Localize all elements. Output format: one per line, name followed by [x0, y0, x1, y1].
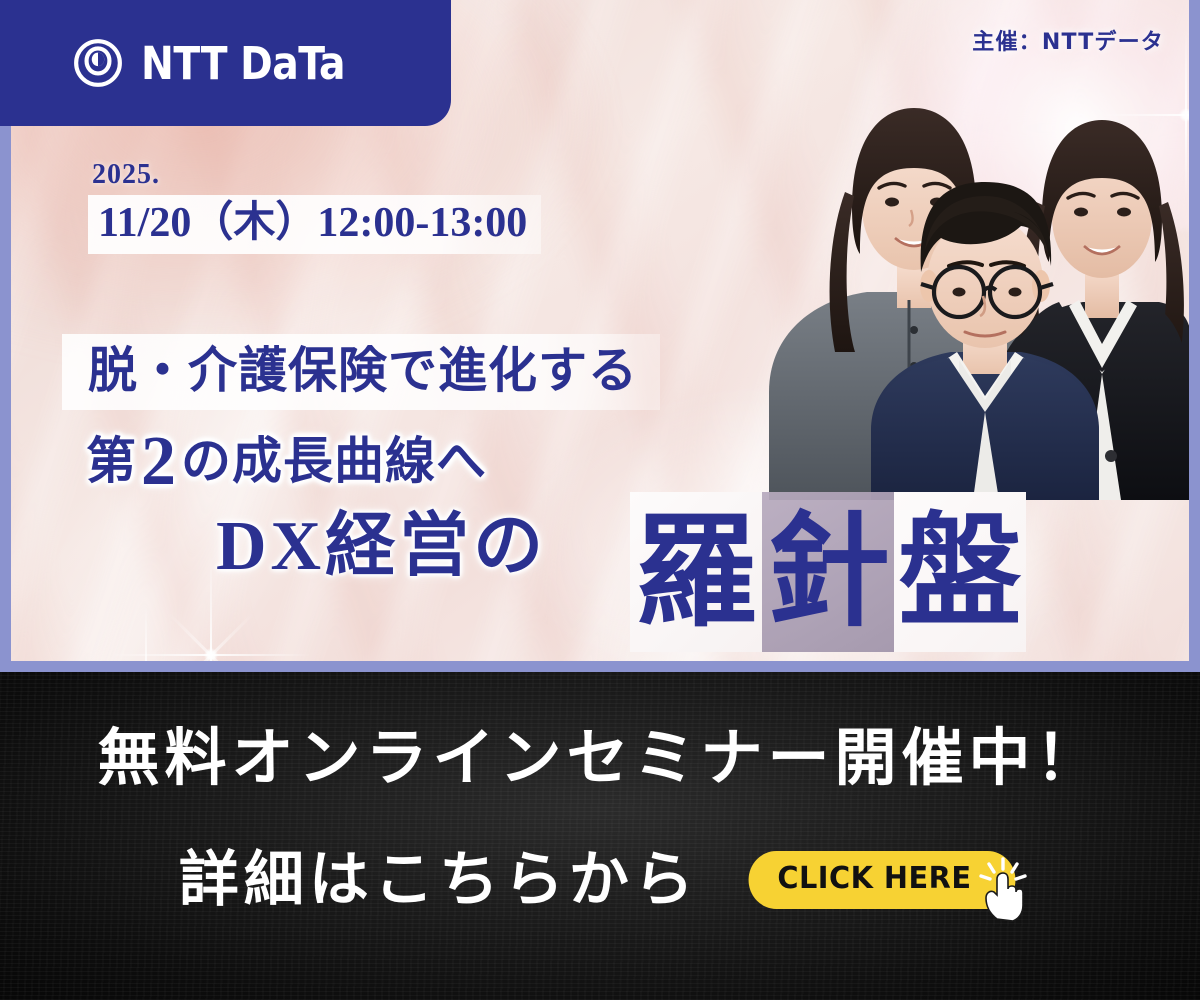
seminar-promo-banner[interactable]: NTT DaTa 主催：NTTデータ 2025. 11/20（木）12:00-1…	[0, 0, 1200, 1000]
headline-line-2: 第2の成長曲線へ	[86, 418, 487, 506]
headline-line-2-number: 2	[137, 423, 181, 500]
headline-line-2-suffix: の成長曲線へ	[181, 433, 487, 489]
ntt-data-logo-mark	[72, 37, 124, 89]
main-title-prefix: DX経営	[216, 512, 473, 582]
footer-line-1: 無料オンラインセミナー開催中！	[0, 728, 1200, 790]
footer-line-2: 詳細はこちらから	[179, 850, 699, 910]
speakers-illustration	[759, 0, 1189, 500]
hero-section: NTT DaTa 主催：NTTデータ 2025. 11/20（木）12:00-1…	[0, 0, 1200, 672]
ntt-data-logo: NTT DaTa	[0, 0, 451, 126]
event-date-block: 2025. 11/20（木）12:00-13:00	[88, 160, 541, 254]
cta-section: 無料オンラインセミナー開催中！ 詳細はこちらから CLICK HERE	[0, 672, 1200, 1000]
event-datetime: 11/20（木）12:00-13:00	[88, 195, 541, 254]
main-title-kanji-1: 羅	[630, 492, 762, 652]
footer-cta-row: 詳細はこちらから CLICK HERE	[0, 850, 1200, 910]
main-title-kanji-2: 針	[762, 492, 894, 652]
ntt-data-wordmark: NTT DaTa	[141, 41, 345, 86]
headline-line-2-prefix: 第	[86, 433, 137, 489]
main-title-kanji-3: 盤	[894, 492, 1026, 652]
event-year: 2025.	[88, 160, 541, 191]
hand-cursor-icon	[977, 857, 1029, 923]
cta-button-wrapper[interactable]: CLICK HERE	[743, 851, 1021, 909]
headline-line-1: 脱・介護保険で進化する	[62, 334, 660, 410]
organizer-label: 主催：NTTデータ	[972, 24, 1164, 56]
click-here-button[interactable]: CLICK HERE	[748, 851, 1015, 909]
main-title-particle: の	[473, 512, 547, 582]
main-title-kanji-group: 羅 針 盤	[630, 492, 1026, 652]
speakers-photo-group	[759, 0, 1189, 500]
main-title-prefix-group: DX経営の	[216, 512, 547, 582]
